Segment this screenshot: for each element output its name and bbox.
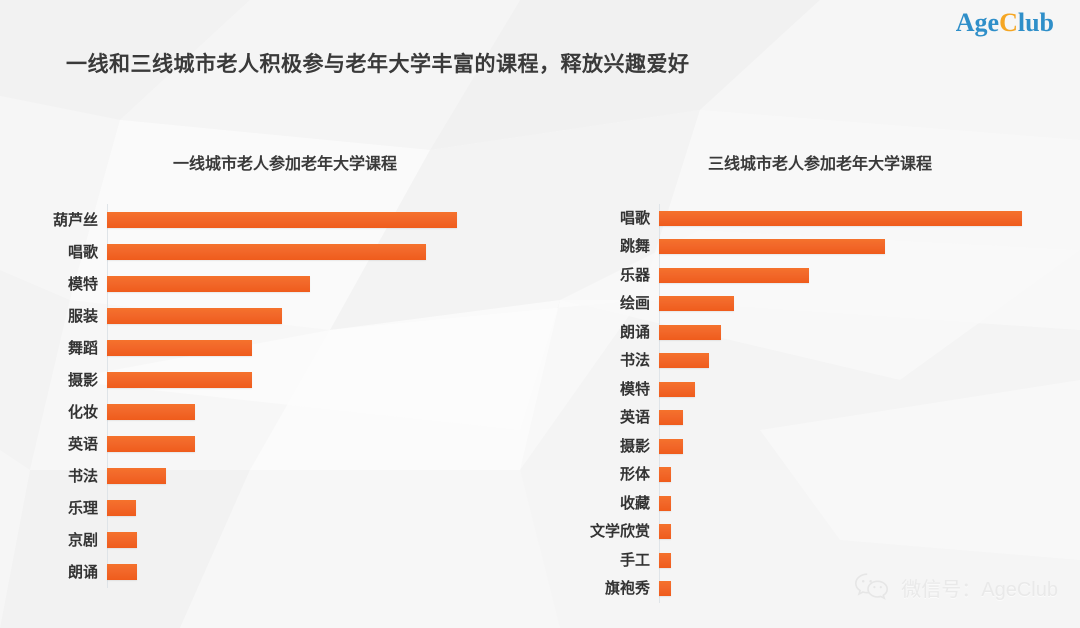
- wechat-watermark: 微信号：AgeClub: [854, 572, 1058, 602]
- bar: [659, 296, 734, 311]
- slide-root: AgeClub 一线和三线城市老人积极参与老年大学丰富的课程，释放兴趣爱好 一线…: [0, 0, 1080, 628]
- chart-title-first-tier: 一线城市老人参加老年大学课程: [0, 150, 540, 174]
- bar-category-label: 京剧: [0, 533, 107, 548]
- bar-row: 形体: [540, 461, 1080, 490]
- bar-category-label: 乐器: [540, 268, 659, 283]
- chart-title-third-tier: 三线城市老人参加老年大学课程: [540, 150, 1080, 174]
- bar-category-label: 书法: [0, 469, 107, 484]
- bar: [107, 372, 252, 388]
- bar-row: 乐器: [540, 261, 1080, 290]
- watermark-text: 微信号：AgeClub: [901, 573, 1058, 602]
- logo-part-c: C: [999, 8, 1018, 37]
- bar-row: 英语: [0, 428, 540, 460]
- bar-row: 模特: [540, 375, 1080, 404]
- wechat-icon: [854, 572, 892, 602]
- page-title: 一线和三线城市老人积极参与老年大学丰富的课程，释放兴趣爱好: [66, 48, 690, 78]
- slide-header: AgeClub 一线和三线城市老人积极参与老年大学丰富的课程，释放兴趣爱好: [0, 0, 1080, 96]
- bar-category-label: 葫芦丝: [0, 213, 107, 228]
- bar-category-label: 舞蹈: [0, 341, 107, 356]
- bar-row: 京剧: [0, 524, 540, 556]
- bar: [659, 524, 671, 539]
- ageclub-logo: AgeClub: [956, 8, 1054, 38]
- bar-category-label: 英语: [540, 410, 659, 425]
- bar-row: 手工: [540, 546, 1080, 575]
- bar-row: 朗诵: [0, 556, 540, 588]
- bar-category-label: 化妆: [0, 405, 107, 420]
- bar: [659, 553, 671, 568]
- bar-row: 收藏: [540, 489, 1080, 518]
- bar-row: 葫芦丝: [0, 204, 540, 236]
- bar-category-label: 文学欣赏: [540, 524, 659, 539]
- bar-row: 跳舞: [540, 233, 1080, 262]
- bar-row: 书法: [0, 460, 540, 492]
- bar-row: 摄影: [540, 432, 1080, 461]
- chart-third-tier: 三线城市老人参加老年大学课程 唱歌跳舞乐器绘画朗诵书法模特英语摄影形体收藏文学欣…: [540, 150, 1080, 603]
- bar-category-label: 服装: [0, 309, 107, 324]
- bar: [107, 500, 136, 516]
- bar-row: 服装: [0, 300, 540, 332]
- bar-row: 唱歌: [540, 204, 1080, 233]
- bar: [107, 468, 166, 484]
- bar-category-label: 模特: [540, 382, 659, 397]
- bar-category-label: 摄影: [0, 373, 107, 388]
- bar-row: 文学欣赏: [540, 518, 1080, 547]
- bar: [659, 382, 695, 397]
- bar-row: 朗诵: [540, 318, 1080, 347]
- bar: [659, 239, 885, 254]
- bar-category-label: 唱歌: [540, 211, 659, 226]
- bar-row: 唱歌: [0, 236, 540, 268]
- chart-first-tier: 一线城市老人参加老年大学课程 葫芦丝唱歌模特服装舞蹈摄影化妆英语书法乐理京剧朗诵: [0, 150, 540, 588]
- bar-category-label: 朗诵: [0, 565, 107, 580]
- bar-category-label: 英语: [0, 437, 107, 452]
- bar: [107, 340, 252, 356]
- bar: [107, 212, 457, 228]
- bar: [659, 496, 671, 511]
- bar-list-first-tier: 葫芦丝唱歌模特服装舞蹈摄影化妆英语书法乐理京剧朗诵: [0, 204, 540, 588]
- bar-category-label: 摄影: [540, 439, 659, 454]
- bar-row: 绘画: [540, 290, 1080, 319]
- bar-category-label: 唱歌: [0, 245, 107, 260]
- logo-part-age: Age: [956, 8, 999, 37]
- bar: [107, 564, 137, 580]
- bar-list-third-tier: 唱歌跳舞乐器绘画朗诵书法模特英语摄影形体收藏文学欣赏手工旗袍秀: [540, 204, 1080, 603]
- bar-category-label: 绘画: [540, 296, 659, 311]
- bar-category-label: 跳舞: [540, 239, 659, 254]
- bar: [107, 244, 426, 260]
- bar: [659, 439, 683, 454]
- bar-row: 化妆: [0, 396, 540, 428]
- plot-first-tier: 葫芦丝唱歌模特服装舞蹈摄影化妆英语书法乐理京剧朗诵: [0, 204, 540, 588]
- bar: [659, 353, 709, 368]
- bar: [659, 268, 809, 283]
- bar-row: 舞蹈: [0, 332, 540, 364]
- bar: [107, 404, 195, 420]
- logo-part-lub: lub: [1018, 8, 1054, 37]
- bar-category-label: 形体: [540, 467, 659, 482]
- plot-third-tier: 唱歌跳舞乐器绘画朗诵书法模特英语摄影形体收藏文学欣赏手工旗袍秀: [540, 204, 1080, 603]
- bar-category-label: 朗诵: [540, 325, 659, 340]
- bar-category-label: 书法: [540, 353, 659, 368]
- bar-category-label: 模特: [0, 277, 107, 292]
- bar: [107, 276, 310, 292]
- bar-category-label: 旗袍秀: [540, 581, 659, 596]
- bar: [659, 581, 671, 596]
- bar-category-label: 乐理: [0, 501, 107, 516]
- bar: [107, 436, 195, 452]
- bar: [659, 211, 1022, 226]
- bar-row: 模特: [0, 268, 540, 300]
- bar-row: 摄影: [0, 364, 540, 396]
- bar: [659, 410, 683, 425]
- bar: [659, 325, 721, 340]
- bar: [107, 532, 137, 548]
- bar: [659, 467, 671, 482]
- bar: [107, 308, 282, 324]
- bar-row: 英语: [540, 404, 1080, 433]
- bar-category-label: 手工: [540, 553, 659, 568]
- bar-row: 乐理: [0, 492, 540, 524]
- bar-category-label: 收藏: [540, 496, 659, 511]
- bar-row: 书法: [540, 347, 1080, 376]
